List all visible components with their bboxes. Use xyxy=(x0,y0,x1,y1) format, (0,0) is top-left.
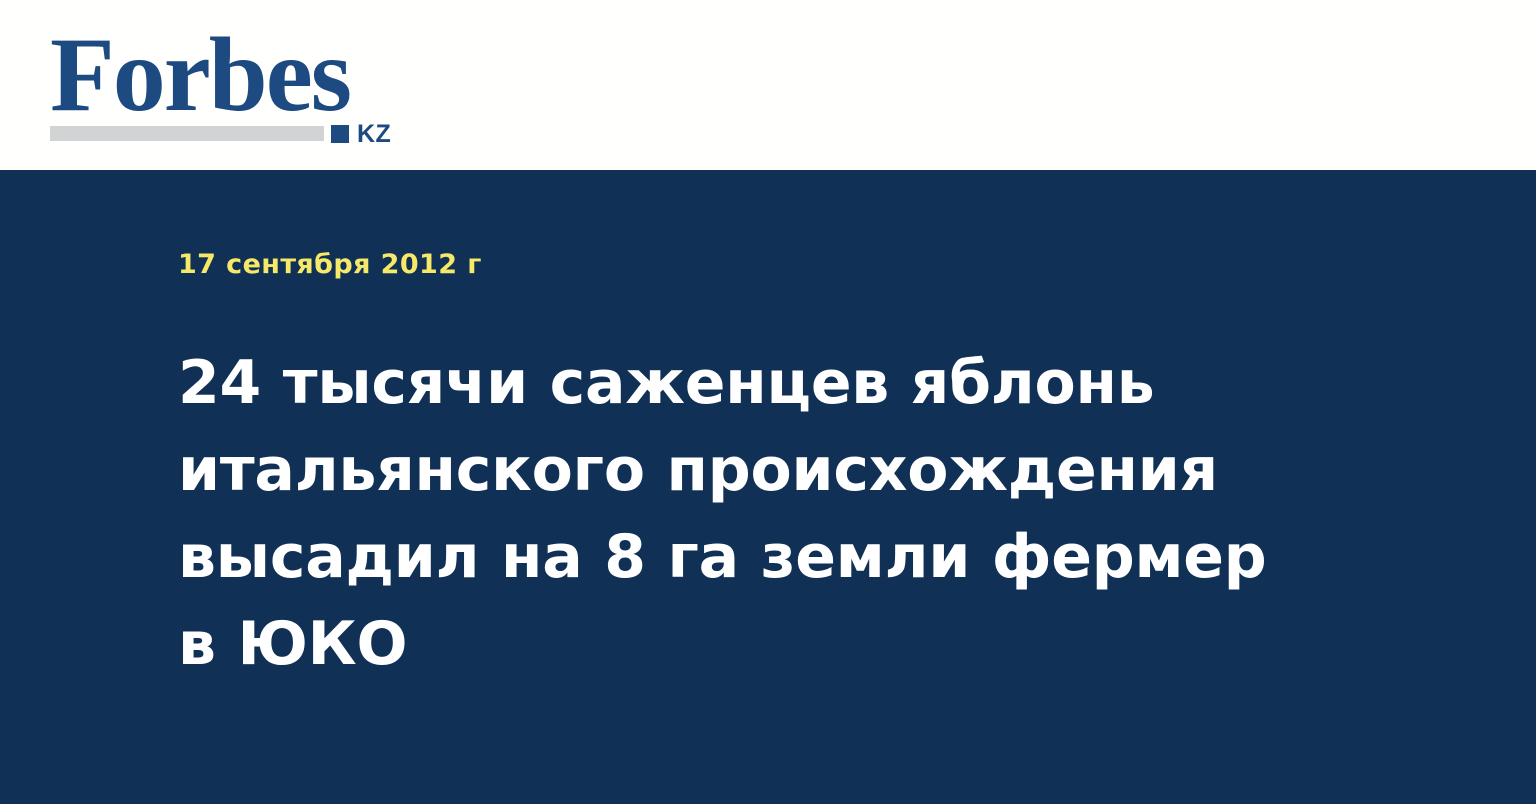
article-hero-page: Forbes KZ 17 сентября 2012 г 24 тысячи с… xyxy=(0,0,1536,804)
article-hero-band: 17 сентября 2012 г 24 тысячи саженцев яб… xyxy=(0,170,1536,804)
site-header: Forbes KZ xyxy=(0,0,1536,170)
article-publish-date: 17 сентября 2012 г xyxy=(178,250,482,280)
article-headline: 24 тысячи саженцев яблонь итальянского п… xyxy=(178,340,1308,688)
square-mark-icon xyxy=(331,125,349,143)
logo-rule-divider xyxy=(50,126,324,141)
forbes-kz-logo[interactable]: Forbes KZ xyxy=(50,22,410,150)
logo-kz-label: KZ xyxy=(357,122,391,147)
forbes-wordmark: Forbes xyxy=(50,22,350,128)
